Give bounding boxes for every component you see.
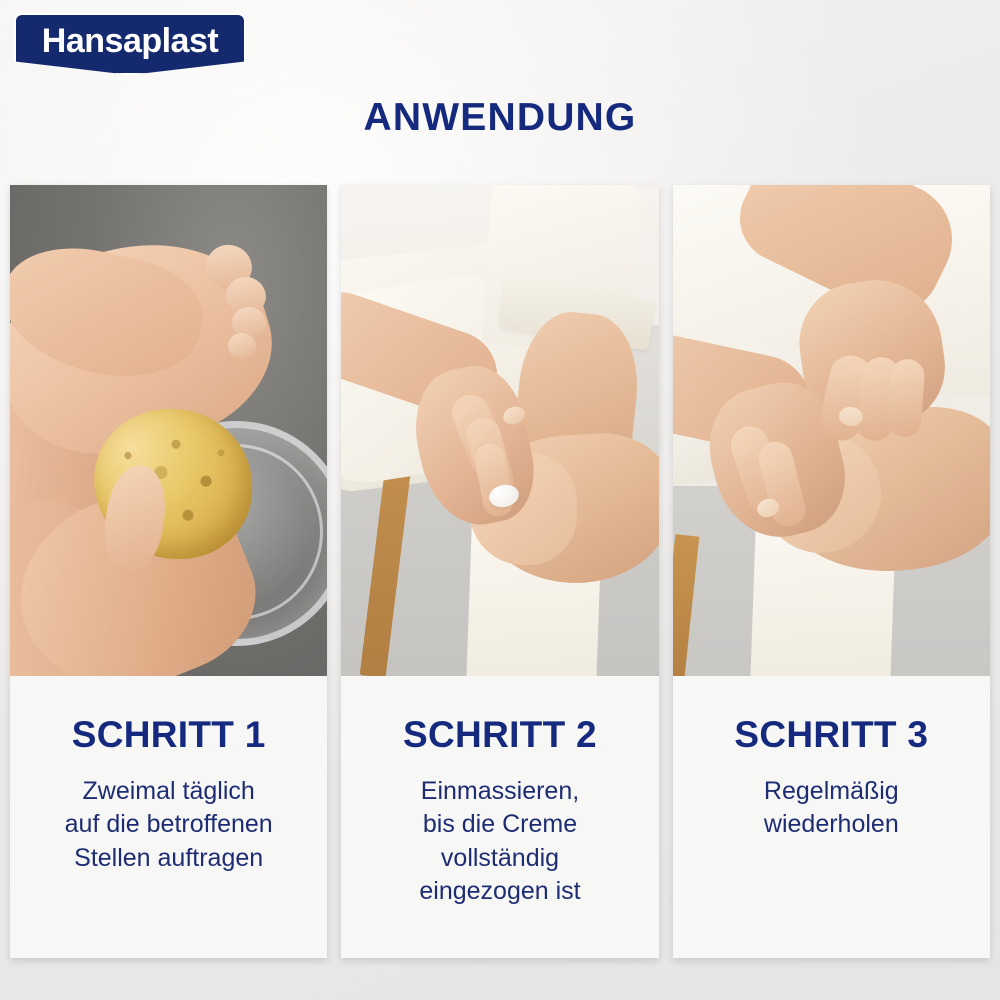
logo-navy-shield: Hansaplast xyxy=(14,13,246,75)
step-title: SCHRITT 3 xyxy=(683,716,980,753)
hansaplast-logo[interactable]: Hansaplast xyxy=(10,10,250,88)
step-card-1: SCHRITT 1 Zweimal täglich auf die betrof… xyxy=(10,185,327,958)
logo-wordmark: Hansaplast xyxy=(42,24,218,58)
finger xyxy=(886,358,925,438)
foot-washing-with-sponge-photo xyxy=(10,185,327,676)
page-title: ANWENDUNG xyxy=(0,98,1000,137)
step-title: SCHRITT 2 xyxy=(351,716,648,753)
massaging-foot-photo xyxy=(673,185,990,676)
step-description: Einmassieren, bis die Creme vollständig … xyxy=(351,775,648,908)
step-title: SCHRITT 1 xyxy=(20,716,317,753)
promo-page: Hansaplast ANWENDUNG xyxy=(0,0,1000,1000)
step-caption: SCHRITT 1 Zweimal täglich auf die betrof… xyxy=(10,676,327,958)
applying-cream-to-heel-photo xyxy=(341,185,658,676)
step-caption: SCHRITT 2 Einmassieren, bis die Creme vo… xyxy=(341,676,658,958)
step-caption: SCHRITT 3 Regelmäßig wiederholen xyxy=(673,676,990,958)
step-description: Regelmäßig wiederholen xyxy=(683,775,980,842)
step-card-3: SCHRITT 3 Regelmäßig wiederholen xyxy=(673,185,990,958)
steps-grid: SCHRITT 1 Zweimal täglich auf die betrof… xyxy=(10,185,990,958)
step-card-2: SCHRITT 2 Einmassieren, bis die Creme vo… xyxy=(341,185,658,958)
step-description: Zweimal täglich auf die betroffenen Stel… xyxy=(20,775,317,875)
